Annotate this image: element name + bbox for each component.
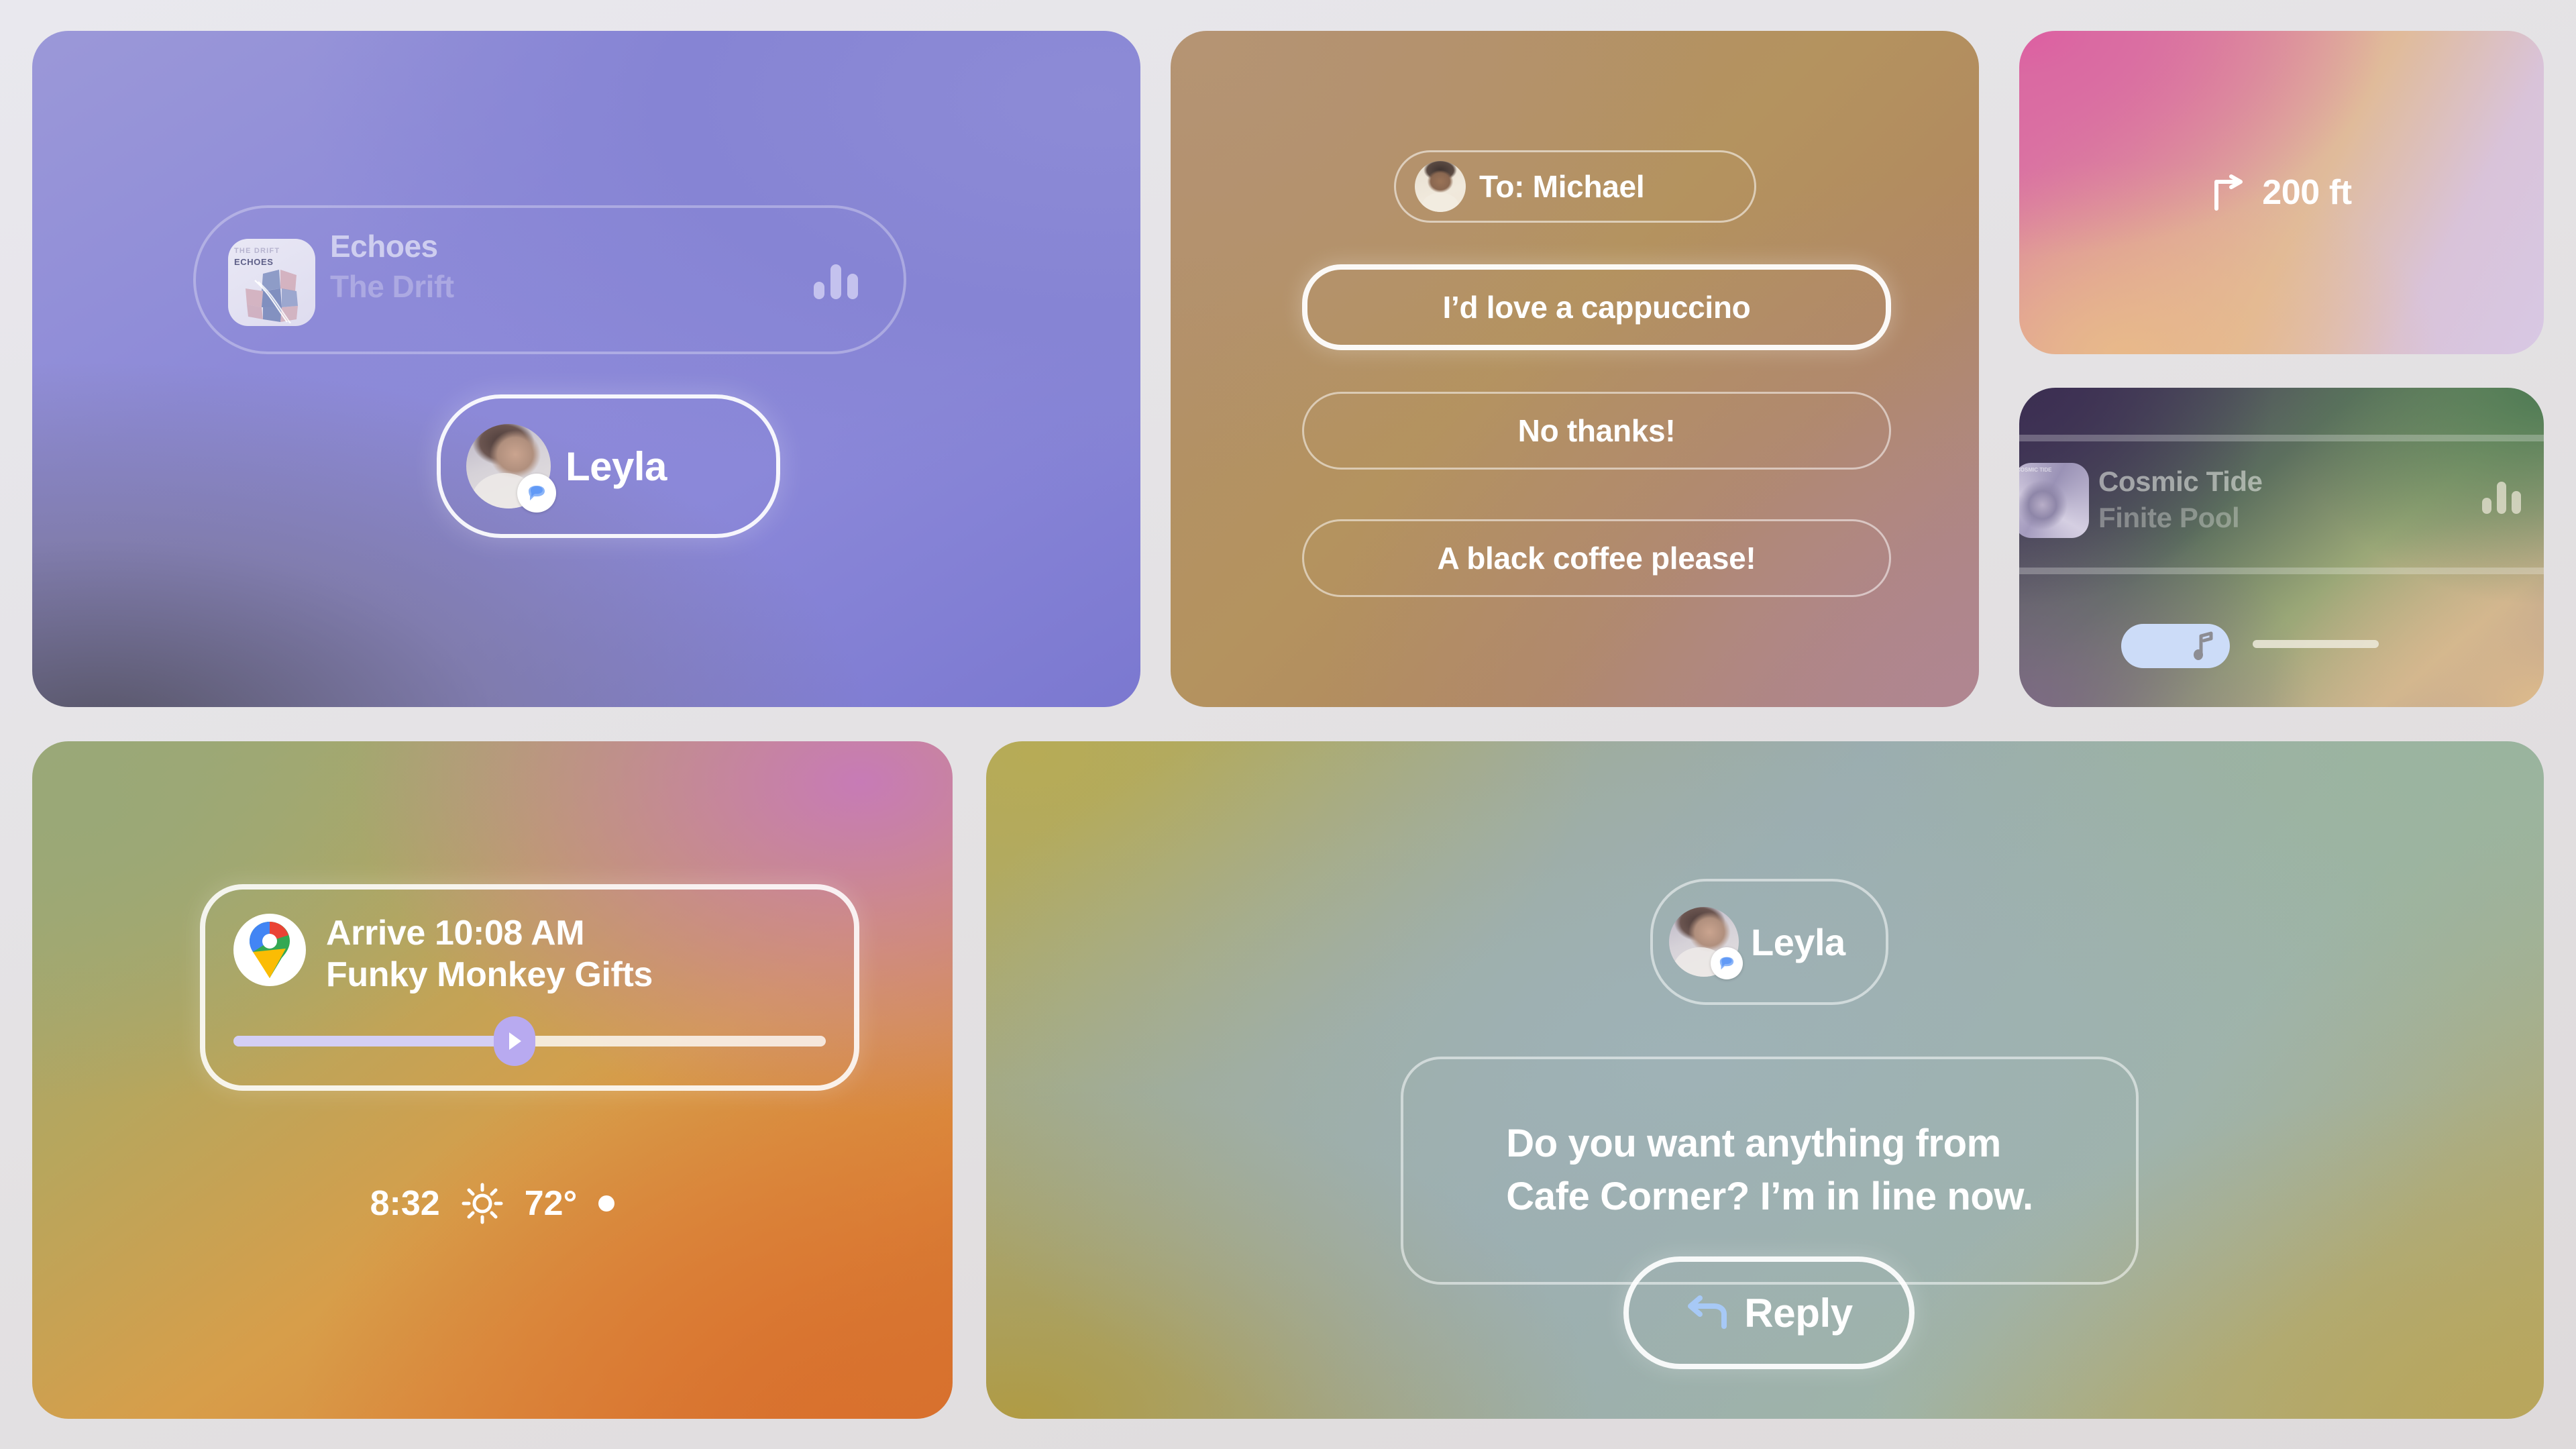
secondary-now-playing-card[interactable]: COSMIC TIDE Cosmic Tide Finite Pool — [2019, 388, 2544, 707]
music-note-icon[interactable] — [2121, 624, 2230, 668]
reply-button-label: Reply — [1744, 1290, 1852, 1336]
reply-option[interactable]: A black coffee please! — [1302, 519, 1891, 597]
navigation-inner: 200 ft — [2211, 172, 2351, 213]
eta-destination: Funky Monkey Gifts — [326, 955, 653, 994]
sender-name: Leyla — [566, 443, 667, 490]
suggested-replies-card[interactable]: To: Michael I’d love a cappuccino No tha… — [1171, 31, 1979, 707]
album-art: THE DRIFT ECHOES — [228, 239, 315, 326]
navigation-distance: 200 ft — [2262, 172, 2351, 213]
navigation-card[interactable]: 200 ft — [2019, 31, 2544, 354]
contact-avatar-michael — [1415, 161, 1466, 212]
white-status-dot — [598, 1195, 614, 1212]
album-art: COSMIC TIDE — [2019, 463, 2089, 538]
messages-badge-icon — [1711, 947, 1743, 979]
album-art-label-top: THE DRIFT — [234, 247, 280, 255]
eta-text: Arrive 10:08 AM Funky Monkey Gifts — [326, 914, 653, 994]
playback-progress-bar[interactable] — [2253, 640, 2379, 648]
message-bubble: Do you want anything from Cafe Corner? I… — [1401, 1057, 2139, 1285]
message-body: Do you want anything from Cafe Corner? I… — [1506, 1118, 2033, 1224]
eta-time: Arrive 10:08 AM — [326, 914, 653, 953]
now-playing-text: Echoes The Drift — [330, 228, 454, 305]
status-row: 8:32 72° — [32, 1183, 953, 1224]
route-progress-fill — [233, 1036, 512, 1046]
navigation-eta-card[interactable]: Arrive 10:08 AM Funky Monkey Gifts 8:32 — [32, 741, 953, 1419]
eta-row: Arrive 10:08 AM Funky Monkey Gifts — [233, 914, 653, 994]
message-line-1: Do you want anything from — [1506, 1122, 2001, 1165]
track-artist: Finite Pool — [2098, 502, 2239, 534]
widget-dashboard: THE DRIFT ECHOES — [0, 0, 2576, 1449]
album-art-label: COSMIC TIDE — [2019, 467, 2051, 474]
reply-arrow-icon — [1685, 1295, 1729, 1330]
reply-option[interactable]: No thanks! — [1302, 392, 1891, 470]
equalizer-icon — [2482, 482, 2521, 514]
clock-time: 8:32 — [370, 1183, 440, 1224]
track-artist: The Drift — [330, 268, 454, 305]
reply-button[interactable]: Reply — [1623, 1256, 1915, 1369]
incoming-message-card[interactable]: Leyla Do you want anything from Cafe Cor… — [986, 741, 2544, 1419]
divider-mid — [2019, 568, 2544, 574]
avatar — [1669, 907, 1739, 977]
album-art-shapes — [243, 268, 303, 323]
reply-option[interactable]: I’d love a cappuccino — [1302, 264, 1891, 350]
now-playing-card[interactable]: THE DRIFT ECHOES — [32, 31, 1140, 707]
divider-top — [2019, 435, 2544, 441]
recipient-label: To: Michael — [1479, 168, 1644, 205]
sender-name: Leyla — [1751, 920, 1845, 964]
avatar — [466, 424, 551, 508]
messages-badge-icon — [517, 474, 556, 513]
sender-chip-leyla[interactable]: Leyla — [437, 394, 780, 538]
recipient-chip[interactable]: To: Michael — [1394, 150, 1756, 223]
album-art-label-bottom: ECHOES — [234, 257, 274, 267]
now-playing-pill[interactable]: THE DRIFT ECHOES — [193, 205, 906, 354]
google-maps-pin-icon — [233, 914, 306, 986]
track-title: Cosmic Tide — [2098, 466, 2263, 498]
sender-chip-leyla[interactable]: Leyla — [1650, 879, 1888, 1005]
track-title: Echoes — [330, 228, 454, 264]
message-line-2: Cafe Corner? I’m in line now. — [1506, 1175, 2033, 1218]
temperature: 72° — [525, 1183, 578, 1224]
equalizer-icon — [814, 264, 858, 299]
sun-icon — [462, 1183, 503, 1224]
turn-right-arrow-icon — [2211, 174, 2247, 211]
eta-pill[interactable]: Arrive 10:08 AM Funky Monkey Gifts — [200, 884, 859, 1091]
navigation-play-icon[interactable] — [494, 1016, 535, 1066]
